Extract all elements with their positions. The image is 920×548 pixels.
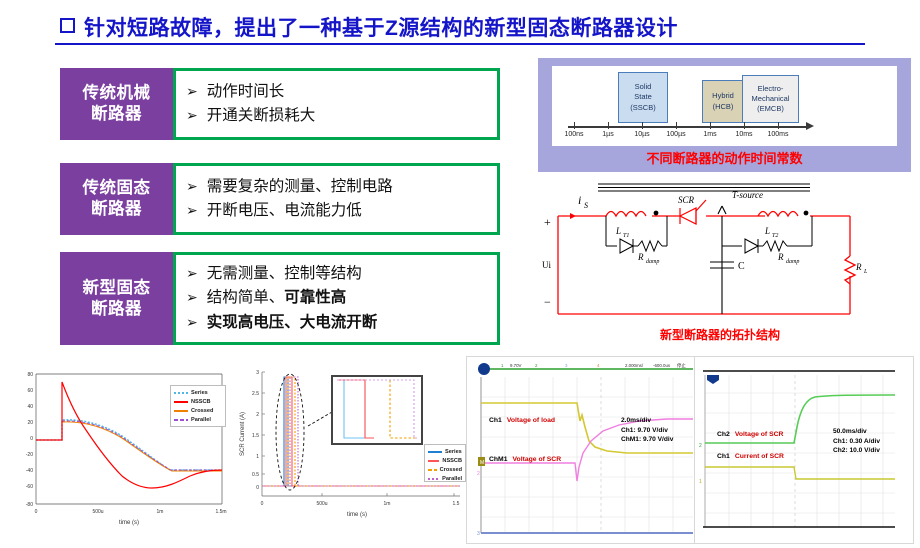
breaker-timing-figure: Solid State (SSCB) Hybrid (HCB) Electro-… — [538, 58, 911, 172]
svg-text:2.5: 2.5 — [252, 391, 259, 397]
legend-item: NSSCB — [171, 397, 225, 406]
svg-text:0.5: 0.5 — [252, 472, 259, 478]
chm1-name: ChM1 — [489, 456, 508, 463]
svg-text:1.5: 1.5 — [453, 501, 460, 507]
svg-text:3: 3 — [256, 370, 259, 376]
legend-item: Crossed — [171, 406, 225, 415]
plot1-svg: 8060 4020 0-20 -40-60 -80 0500u 1m1.5m t… — [10, 356, 232, 536]
legend-swatch-crossed — [174, 410, 188, 412]
svg-text:damp: damp — [646, 259, 659, 265]
point-text: 动作时间长 — [207, 80, 285, 104]
ch1-name: Ch1 — [489, 417, 502, 424]
legend-item: Series — [171, 388, 225, 397]
timing-axis-line — [568, 126, 808, 128]
axis-tick — [608, 122, 609, 129]
axis-tick-label: 10µs — [634, 131, 649, 138]
legend-swatch-series — [428, 451, 442, 453]
arrow-bullet-icon: ➢ — [186, 311, 198, 334]
arrow-bullet-icon: ➢ — [186, 104, 198, 127]
svg-text:1: 1 — [699, 479, 702, 485]
arrow-bullet-icon: ➢ — [186, 80, 198, 103]
point-text: 无需测量、控制等结构 — [207, 262, 362, 286]
note-timebase: 50.0ms/div — [833, 427, 880, 437]
circuit-svg: i S L T1 L T2 R damp R damp R L C SCR T-… — [520, 178, 920, 328]
svg-text:0: 0 — [30, 436, 33, 442]
point-text: 开通关断损耗大 — [207, 104, 316, 128]
svg-text:-20: -20 — [26, 452, 33, 458]
axis-tick — [642, 122, 643, 129]
point-text-bold: 实现高电压、大电流开断 — [207, 311, 378, 335]
timing-figure-caption: 不同断路器的动作时间常数 — [538, 148, 911, 167]
legend-label: Crossed — [191, 408, 213, 414]
ch1-signal: Voltage of load — [507, 417, 555, 424]
timing-chart-area: Solid State (SSCB) Hybrid (HCB) Electro-… — [552, 66, 897, 146]
row-tag-line1: 传统机械 — [83, 83, 151, 104]
axis-tick-label: 1µs — [602, 131, 613, 138]
scope-right-ch2-label: Ch2Voltage of SCR — [717, 431, 783, 438]
legend-label: Parallel — [442, 476, 462, 482]
plot2-inset — [332, 376, 422, 444]
row-points-new-solid-state: ➢ 无需测量、控制等结构 ➢ 结构简单、可靠性高 ➢ 实现高电压、大电流开断 — [173, 252, 500, 345]
axis-tick-label: 100ms — [767, 131, 788, 138]
svg-text:1m: 1m — [384, 501, 391, 507]
sscb-line2: State — [634, 92, 652, 102]
legend-swatch-parallel — [428, 478, 439, 480]
legend-item: Crossed — [425, 465, 465, 474]
row-points-mechanical: ➢ 动作时间长 ➢ 开通关断损耗大 — [173, 68, 500, 140]
plot1-xlabel: time (s) — [119, 520, 139, 526]
scope-left-notes: 2.0ms/div Ch1: 9.70 V/div ChM1: 9.70 V/d… — [621, 416, 673, 445]
svg-text:60: 60 — [27, 388, 33, 394]
svg-text:20: 20 — [27, 420, 33, 426]
svg-text:0: 0 — [35, 509, 38, 515]
emcb-line1: Electro- — [758, 84, 784, 94]
sscb-line1: Solid — [635, 82, 652, 92]
axis-tick-label: 100µs — [666, 131, 685, 138]
row-tag-line1: 传统固态 — [83, 178, 151, 199]
plot1-legend: Series NSSCB Crossed Parallel — [170, 385, 226, 427]
note-ch2-scale: Ch2: 10.0 V/div — [833, 446, 880, 456]
emcb-line3: (EMCB) — [757, 104, 784, 114]
label-lt1: L — [615, 226, 621, 236]
label-tsource: T-source — [732, 190, 763, 200]
row-points-conventional-solid-state: ➢ 需要复杂的测量、控制电路 ➢ 开断电压、电流能力低 — [173, 163, 500, 235]
scope-left-svg: 1 9.70V 2 3 4 2.000ms/ -600.0us 停止 M — [467, 357, 695, 543]
row-tag-mechanical: 传统机械 断路器 — [60, 68, 173, 140]
arrow-bullet-icon: ➢ — [186, 286, 198, 309]
ch2-signal: Voltage of SCR — [735, 431, 784, 438]
legend-item: Parallel — [425, 474, 465, 483]
page-title: 针对短路故障，提出了一种基于Z源结构的新型固态断路器设计 — [60, 12, 678, 42]
legend-label: NSSCB — [442, 458, 462, 464]
timing-axis-arrow-icon — [806, 122, 814, 130]
emcb-line2: Mechanical — [752, 94, 790, 104]
point-text-bold: 可靠性高 — [284, 286, 346, 310]
label-load: R — [855, 262, 862, 272]
oscilloscope-left: 1 9.70V 2 3 4 2.000ms/ -600.0us 停止 M — [466, 356, 696, 544]
timing-box-sscb: Solid State (SSCB) — [618, 72, 668, 123]
svg-text:-600.0us: -600.0us — [653, 363, 671, 368]
svg-text:-60: -60 — [26, 484, 33, 490]
legend-label: Series — [445, 449, 462, 455]
svg-text:1.5: 1.5 — [252, 433, 259, 439]
svg-text:S: S — [584, 201, 588, 210]
axis-tick — [778, 122, 779, 129]
point-text: 开断电压、电流能力低 — [207, 199, 362, 223]
legend-label: Crossed — [440, 467, 462, 473]
point-text: 结构简单、 — [207, 286, 285, 310]
note-timebase: 2.0ms/div — [621, 416, 673, 426]
note-ch1-scale: Ch1: 9.70 V/div — [621, 426, 673, 436]
label-source-current: i — [578, 193, 581, 207]
circuit-figure-caption: 新型断路器的拓扑结构 — [520, 326, 920, 343]
scope-right-svg: 2 1 — [695, 357, 913, 543]
note-chm1-scale: ChM1: 9.70 V/div — [621, 435, 673, 445]
svg-text:3: 3 — [477, 531, 480, 537]
axis-tick-label: 1ms — [703, 131, 716, 138]
label-cap: C — [738, 261, 745, 272]
scr-current-plot: 32.5 21.5 10.5 0 0500u 1m1.5 time (s) SC… — [232, 356, 464, 536]
label-plus: + — [544, 215, 551, 229]
timing-box-emcb: Electro- Mechanical (EMCB) — [742, 75, 799, 123]
legend-swatch-crossed — [428, 469, 437, 471]
svg-text:T1: T1 — [623, 233, 629, 239]
svg-text:-80: -80 — [26, 502, 33, 508]
axis-tick — [744, 122, 745, 129]
hcb-line2: (HCB) — [713, 102, 734, 112]
title-bullet-icon — [60, 18, 75, 33]
legend-item: Series — [425, 447, 465, 456]
inductor-lt1 — [606, 212, 646, 217]
svg-text:2: 2 — [477, 471, 480, 477]
svg-text:2: 2 — [699, 443, 702, 449]
sscb-line3: (SSCB) — [630, 103, 655, 113]
label-minus: − — [544, 295, 551, 309]
svg-text:500u: 500u — [92, 509, 103, 515]
row-tag-line2: 断路器 — [91, 199, 142, 220]
legend-label: Series — [191, 390, 208, 396]
axis-tick — [676, 122, 677, 129]
ch2-name: Ch2 — [717, 431, 730, 438]
ch1-signal: Current of SCR — [735, 453, 784, 460]
chm1-signal: Voltage of SCR — [513, 456, 562, 463]
legend-swatch-series — [174, 392, 188, 394]
legend-item: Parallel — [171, 415, 225, 424]
hcb-line1: Hybrid — [712, 91, 734, 101]
list-item: ➢ 动作时间长 — [186, 80, 497, 104]
svg-text:-40: -40 — [26, 468, 33, 474]
circuit-topology-figure: i S L T1 L T2 R damp R damp R L C SCR T-… — [520, 178, 920, 350]
legend-label: NSSCB — [191, 399, 211, 405]
label-input: Ui — [542, 260, 551, 270]
row-tag-line2: 断路器 — [91, 299, 142, 320]
svg-text:1: 1 — [256, 454, 259, 460]
svg-text:9.70V: 9.70V — [510, 363, 522, 368]
svg-text:L: L — [863, 269, 868, 275]
note-ch1-scale: Ch1: 0.30 A/div — [833, 437, 880, 447]
svg-text:T2: T2 — [772, 233, 778, 239]
comparison-row-new-solid-state: 新型固态 断路器 ➢ 无需测量、控制等结构 ➢ 结构简单、可靠性高 ➢ 实现高电… — [60, 252, 500, 345]
axis-tick — [710, 122, 711, 129]
slide-title-bar: 针对短路故障，提出了一种基于Z源结构的新型固态断路器设计 — [0, 12, 920, 48]
arrow-bullet-icon: ➢ — [186, 262, 198, 285]
svg-text:0: 0 — [256, 485, 259, 491]
label-scr: SCR — [678, 195, 695, 205]
plot2-legend: Series NSSCB Crossed Parallel — [424, 444, 466, 482]
plot2-xlabel: time (s) — [347, 512, 367, 518]
list-item: ➢ 需要复杂的测量、控制电路 — [186, 175, 497, 199]
svg-text:2.000ms/: 2.000ms/ — [625, 363, 644, 368]
title-underline — [55, 43, 865, 45]
row-tag-conventional-solid-state: 传统固态 断路器 — [60, 163, 173, 235]
label-rdamp1: R — [637, 252, 644, 262]
label-lt2: L — [764, 226, 770, 236]
timing-box-hcb: Hybrid (HCB) — [702, 80, 744, 123]
svg-text:M: M — [480, 460, 484, 466]
list-item: ➢ 无需测量、控制等结构 — [186, 262, 497, 286]
svg-text:500u: 500u — [316, 501, 327, 507]
ch1-name: Ch1 — [717, 453, 730, 460]
scope-right-ch1-label: Ch1Current of SCR — [717, 453, 784, 460]
load-current-plot: 8060 4020 0-20 -40-60 -80 0500u 1m1.5m t… — [10, 356, 232, 536]
svg-text:1m: 1m — [157, 509, 164, 515]
svg-text:40: 40 — [27, 404, 33, 410]
scope-left-chm1-label: ChM1Voltage of SCR — [489, 456, 561, 463]
scope-left-ch1-label: Ch1Voltage of load — [489, 417, 555, 424]
legend-label: Parallel — [191, 417, 211, 423]
svg-text:停止: 停止 — [677, 362, 686, 369]
comparison-row-conventional-solid-state: 传统固态 断路器 ➢ 需要复杂的测量、控制电路 ➢ 开断电压、电流能力低 — [60, 163, 500, 235]
legend-swatch-nsscb — [428, 460, 439, 462]
axis-tick — [574, 122, 575, 129]
arrow-bullet-icon: ➢ — [186, 199, 198, 222]
inductor-lt2 — [758, 212, 798, 217]
row-tag-line1: 新型固态 — [83, 278, 151, 299]
list-item: ➢ 实现高电压、大电流开断 — [186, 311, 497, 335]
axis-tick-label: 10ms — [735, 131, 752, 138]
svg-text:80: 80 — [27, 372, 33, 378]
point-text: 需要复杂的测量、控制电路 — [207, 175, 393, 199]
row-tag-line2: 断路器 — [91, 104, 142, 125]
svg-text:1.5m: 1.5m — [215, 509, 226, 515]
svg-text:2: 2 — [256, 412, 259, 418]
label-rdamp2: R — [777, 252, 784, 262]
legend-swatch-nsscb — [174, 401, 188, 403]
list-item: ➢ 开断电压、电流能力低 — [186, 199, 497, 223]
axis-tick-label: 100ns — [564, 131, 583, 138]
legend-item: NSSCB — [425, 456, 465, 465]
comparison-row-mechanical: 传统机械 断路器 ➢ 动作时间长 ➢ 开通关断损耗大 — [60, 68, 500, 140]
legend-swatch-parallel — [174, 419, 188, 421]
oscilloscope-right: 2 1 Ch2Voltage of SCR Ch1Current of SCR … — [694, 356, 914, 544]
list-item: ➢ 开通关断损耗大 — [186, 104, 497, 128]
scope-cursor-icon — [478, 363, 490, 375]
title-label: 针对短路故障，提出了一种基于Z源结构的新型固态断路器设计 — [84, 17, 678, 40]
arrow-bullet-icon: ➢ — [186, 175, 198, 198]
row-tag-new-solid-state: 新型固态 断路器 — [60, 252, 173, 345]
svg-text:0: 0 — [261, 501, 264, 507]
list-item: ➢ 结构简单、可靠性高 — [186, 286, 497, 310]
scope-right-notes: 50.0ms/div Ch1: 0.30 A/div Ch2: 10.0 V/d… — [833, 427, 880, 456]
plot2-ylabel: SCR Current (A) — [240, 412, 246, 456]
svg-text:damp: damp — [786, 259, 799, 265]
